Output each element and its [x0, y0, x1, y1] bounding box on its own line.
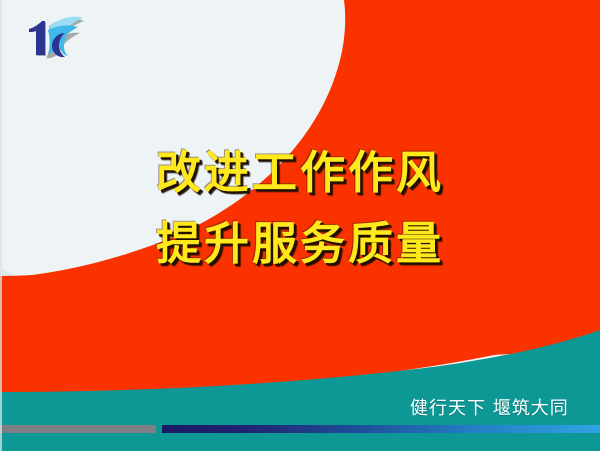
slide-title-block: 改进工作作风 提升服务质量: [0, 142, 600, 275]
slide-title-line-1: 改进工作作风: [0, 142, 600, 204]
slide-tagline: 健行天下 堰筑大同: [410, 398, 592, 420]
logo-1c-wing-icon: [20, 14, 86, 62]
gray-accent-bar: [0, 425, 156, 433]
slide-title-line-2: 提升服务质量: [0, 213, 600, 275]
company-logo[interactable]: [20, 14, 86, 62]
presentation-slide: 改进工作作风 提升服务质量 健行天下 堰筑大同: [0, 0, 600, 451]
blue-gradient-accent-bar: [162, 425, 600, 433]
logo-numeral-one: [29, 21, 45, 55]
